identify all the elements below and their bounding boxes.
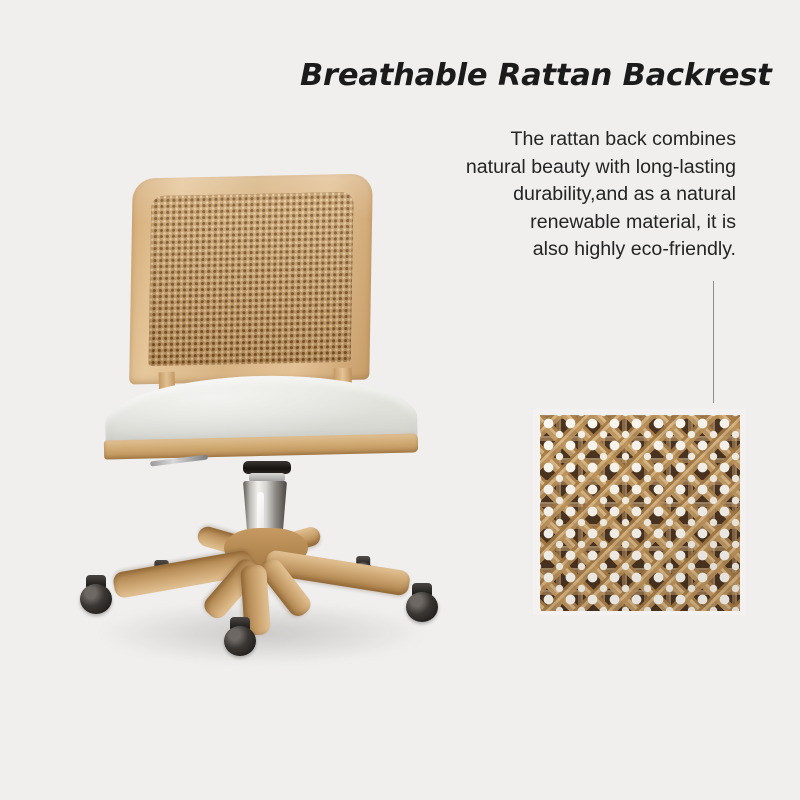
caster-wheel [80, 584, 112, 614]
caster-wheel [406, 592, 438, 622]
backrest-mesh-shading [148, 192, 353, 366]
backrest-cane-panel [148, 192, 353, 366]
gas-cylinder-ring [249, 473, 285, 482]
rattan-swatch [540, 415, 740, 611]
cane-shading [540, 415, 740, 611]
product-image-chair [0, 0, 800, 800]
product-feature-banner: Breathable Rattan Backrest The rattan ba… [0, 0, 800, 800]
caster-wheel [224, 626, 256, 656]
